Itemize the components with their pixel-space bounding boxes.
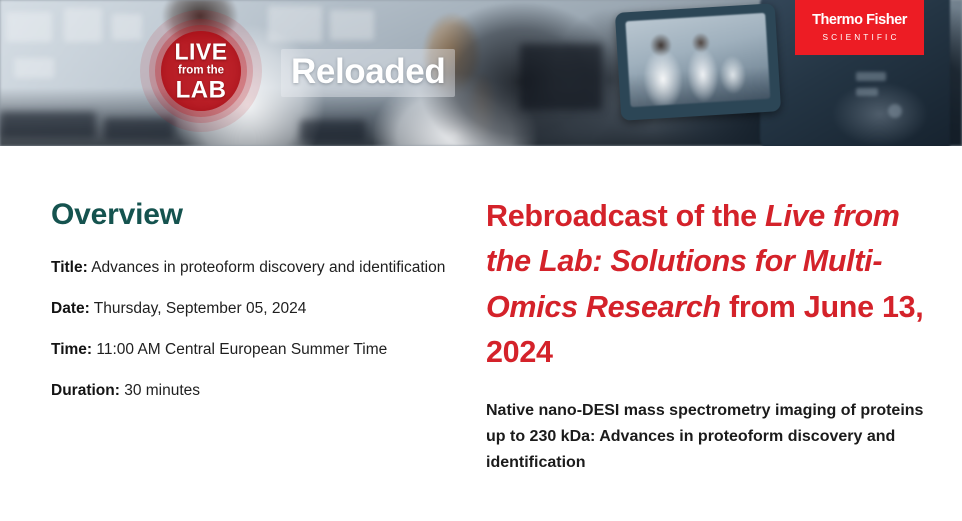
overview-field-time: Time: 11:00 AM Central European Summer T… bbox=[51, 340, 451, 360]
overview-field-duration-value: 30 minutes bbox=[124, 382, 200, 399]
bench-equipment-blob bbox=[300, 120, 366, 142]
overview-field-time-label: Time: bbox=[51, 341, 92, 358]
camcorder-control-detail bbox=[888, 104, 902, 118]
overview-field-title-label: Title: bbox=[51, 259, 88, 276]
feature-heading-part1: Rebroadcast of the bbox=[486, 199, 765, 233]
feature-column: Rebroadcast of the Live from the Lab: So… bbox=[486, 194, 926, 475]
shelf-highlight bbox=[6, 12, 52, 42]
badge-line-from: from the bbox=[158, 65, 244, 77]
overview-field-date-value: Thursday, September 05, 2024 bbox=[94, 300, 307, 317]
feature-heading: Rebroadcast of the Live from the Lab: So… bbox=[486, 194, 926, 376]
camcorder-flip-screen bbox=[615, 3, 781, 121]
badge-text: LIVE from the LAB bbox=[158, 40, 244, 102]
main-content: Overview Title: Advances in proteoform d… bbox=[0, 146, 962, 521]
camcorder-control-detail bbox=[856, 88, 878, 96]
overview-field-title: Title: Advances in proteoform discovery … bbox=[51, 258, 451, 278]
reloaded-wordmark: Reloaded bbox=[281, 49, 455, 97]
live-from-the-lab-badge: LIVE from the LAB bbox=[140, 10, 262, 132]
badge-line-lab: LAB bbox=[158, 78, 244, 102]
hero-banner: LIVE from the LAB Reloaded Thermo Fisher… bbox=[0, 0, 962, 146]
camcorder-control-detail bbox=[856, 72, 886, 81]
overview-field-time-value: 11:00 AM Central European Summer Time bbox=[96, 341, 387, 358]
camcorder-screen-image bbox=[625, 13, 770, 107]
bench-equipment-blob bbox=[0, 112, 96, 138]
shelf-highlight bbox=[330, 10, 374, 40]
shelf-highlight bbox=[112, 14, 142, 40]
bench-equipment-blob bbox=[520, 44, 602, 110]
overview-field-duration: Duration: 30 minutes bbox=[51, 381, 451, 401]
overview-field-date-label: Date: bbox=[51, 300, 90, 317]
shelf-highlight bbox=[14, 58, 54, 78]
overview-column: Overview Title: Advances in proteoform d… bbox=[51, 198, 451, 402]
overview-field-date: Date: Thursday, September 05, 2024 bbox=[51, 299, 451, 319]
shelf-highlight bbox=[64, 8, 102, 42]
badge-line-live: LIVE bbox=[158, 40, 244, 63]
page-title: Overview bbox=[51, 198, 451, 232]
overview-field-duration-label: Duration: bbox=[51, 382, 120, 399]
shelf-highlight bbox=[268, 6, 322, 42]
thermo-fisher-logo: Thermo Fisher SCIENTIFIC bbox=[795, 0, 924, 55]
thermo-fisher-logo-tagline: SCIENTIFIC bbox=[819, 32, 899, 42]
overview-field-title-value: Advances in proteoform discovery and ide… bbox=[91, 259, 445, 276]
feature-subtitle: Native nano-DESI mass spectrometry imagi… bbox=[486, 398, 926, 476]
thermo-fisher-logo-name: Thermo Fisher bbox=[812, 13, 907, 28]
